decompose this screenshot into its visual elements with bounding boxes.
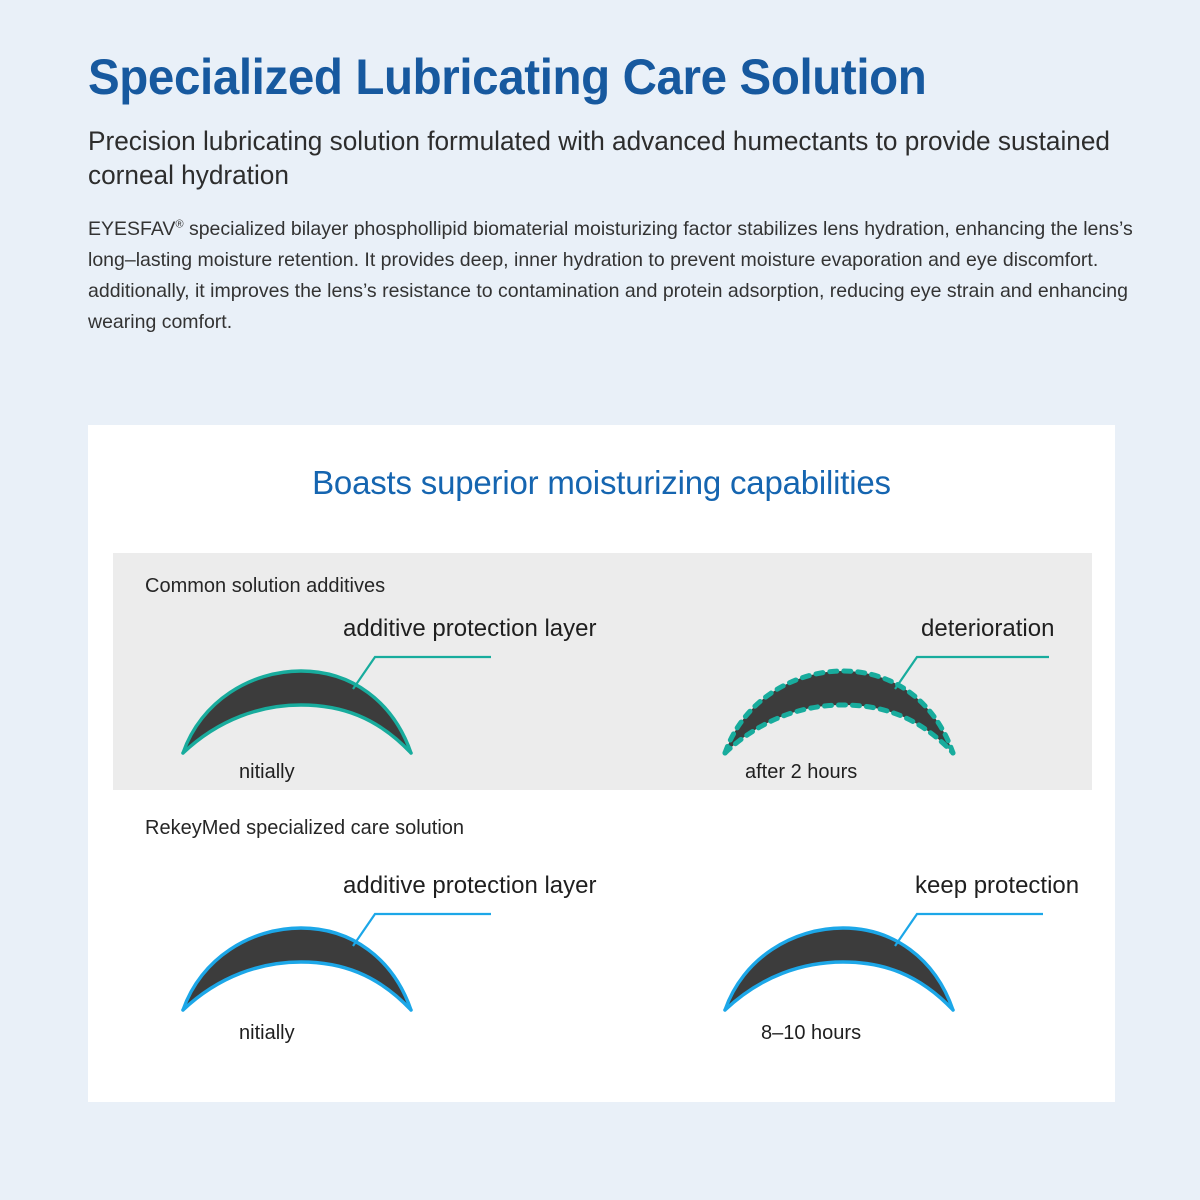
body-paragraph: EYESFAV® specialized bilayer phosphollip… xyxy=(88,214,1136,338)
callout-leader-line xyxy=(895,657,1049,689)
callout-leader-line xyxy=(895,914,1043,946)
stage-label-initial: nitially xyxy=(239,1020,295,1046)
figure-common-after-2-hours: deterioration after 2 hours xyxy=(703,613,1143,793)
panel-common-solution-additives: Common solution additives additive prote… xyxy=(113,553,1092,790)
header-block: Specialized Lubricating Care Solution Pr… xyxy=(88,48,1150,338)
figure-rekeymed-initial: additive protection layer nitially xyxy=(161,870,601,1050)
panel-label-common: Common solution additives xyxy=(145,573,385,599)
callout-label-keep-protection: keep protection xyxy=(915,872,1079,900)
callout-label-protection-layer: additive protection layer xyxy=(343,615,596,643)
page-root: Specialized Lubricating Care Solution Pr… xyxy=(0,0,1200,1200)
page-title: Specialized Lubricating Care Solution xyxy=(88,48,1097,106)
stage-label-after-2-hours: after 2 hours xyxy=(745,759,857,785)
feature-card: Boasts superior moisturizing capabilitie… xyxy=(88,425,1115,1102)
body-paragraph-text: specialized bilayer phosphollipid biomat… xyxy=(88,218,1133,333)
figure-rekeymed-8-10-hours: keep protection 8–10 hours xyxy=(703,870,1143,1050)
lens-body-shape xyxy=(725,671,953,753)
lens-body-shape xyxy=(183,671,411,753)
figure-common-initial: additive protection layer nitially xyxy=(161,613,601,793)
callout-label-protection-layer: additive protection layer xyxy=(343,872,596,900)
stage-label-8-10-hours: 8–10 hours xyxy=(761,1020,861,1046)
callout-leader-line xyxy=(353,657,491,689)
registered-mark-icon: ® xyxy=(175,219,183,231)
panel-rekeymed-care-solution: RekeyMed specialized care solution addit… xyxy=(113,805,1092,1075)
callout-leader-line xyxy=(353,914,491,946)
stage-label-initial: nitially xyxy=(239,759,295,785)
page-subtitle: Precision lubricating solution formulate… xyxy=(88,124,1116,192)
callout-label-deterioration: deterioration xyxy=(921,615,1054,643)
card-heading: Boasts superior moisturizing capabilitie… xyxy=(88,463,1115,503)
lens-body-shape xyxy=(183,928,411,1010)
brand-name: EYESFAV xyxy=(88,218,175,240)
panel-label-rekeymed: RekeyMed specialized care solution xyxy=(145,815,464,841)
lens-body-shape xyxy=(725,928,953,1010)
